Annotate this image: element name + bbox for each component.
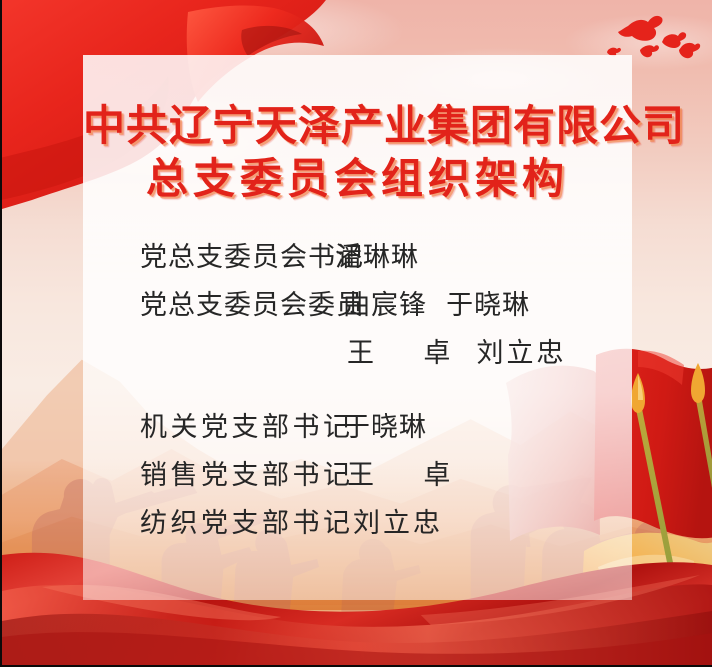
title-line-1: 中共辽宁天泽产业集团有限公司 [83, 99, 632, 152]
roster-names: 潘琳琳 [335, 235, 419, 274]
roster-role-label: 党总支委员会委员 [83, 283, 335, 322]
roster-names: 王 卓 刘立忠 [335, 331, 567, 370]
title-line-2: 总支委员会组织架构 [83, 152, 632, 205]
roster-names: 于晓琳 [335, 405, 427, 444]
roster-row-branch-sales: 销售党支部书记 王 卓 [83, 453, 632, 501]
content-panel: 中共辽宁天泽产业集团有限公司 总支委员会组织架构 党总支委员会书记 潘琳琳 党总… [83, 55, 632, 600]
roster-names: 刘立忠 [335, 501, 443, 540]
roster-list: 党总支委员会书记 潘琳琳 党总支委员会委员 曲宸锋 于晓琳 王 卓 刘立忠 机关… [83, 235, 632, 549]
roster-row-members-2: 王 卓 刘立忠 [83, 331, 632, 379]
roster-row-branch-agency: 机关党支部书记 于晓琳 [83, 405, 632, 453]
roster-names: 王 卓 [335, 453, 453, 492]
page-title: 中共辽宁天泽产业集团有限公司 总支委员会组织架构 [83, 99, 632, 205]
roster-row-members-1: 党总支委员会委员 曲宸锋 于晓琳 [83, 283, 632, 331]
roster-role-label: 销售党支部书记 [83, 453, 335, 492]
poster-canvas: 中共辽宁天泽产业集团有限公司 总支委员会组织架构 党总支委员会书记 潘琳琳 党总… [0, 0, 712, 667]
roster-names: 曲宸锋 于晓琳 [335, 283, 530, 322]
roster-role-label: 党总支委员会书记 [83, 235, 335, 274]
roster-row-secretary: 党总支委员会书记 潘琳琳 [83, 235, 632, 283]
roster-divider-space [83, 379, 632, 405]
roster-role-label: 机关党支部书记 [83, 405, 335, 444]
roster-role-label: 纺织党支部书记 [83, 501, 335, 540]
roster-row-branch-textile: 纺织党支部书记 刘立忠 [83, 501, 632, 549]
